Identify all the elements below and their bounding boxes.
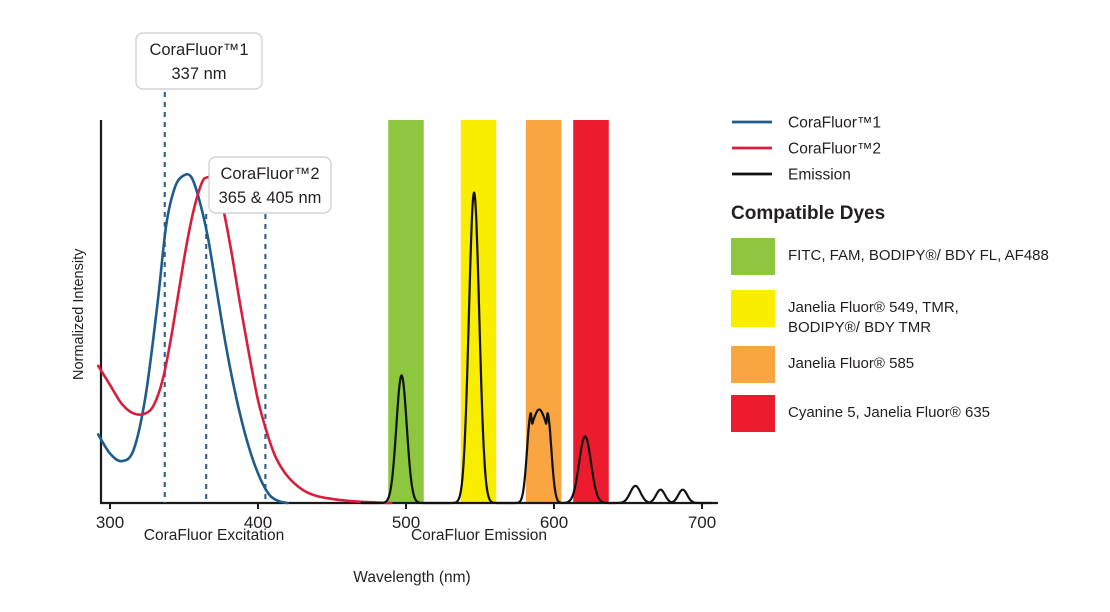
dye-swatch-3 <box>731 346 775 383</box>
emission-band-group <box>388 120 609 503</box>
x-axis-title: Wavelength (nm) <box>353 569 470 586</box>
chart-svg: 300400500600700 CoraFluor™1 337 nm CoraF… <box>0 0 1110 612</box>
dyes-list-group: FITC, FAM, BODIPY®/ BDY FL, AF488Janelia… <box>731 238 1049 432</box>
legend-label-3: Emission <box>788 167 851 184</box>
dye-label-3: Janelia Fluor® 585 <box>788 355 914 372</box>
legend-group: CoraFluor™1CoraFluor™2Emission <box>732 115 881 184</box>
callout-corafluor2: CoraFluor™2 365 & 405 nm <box>209 157 331 213</box>
legend-label-2: CoraFluor™2 <box>788 141 881 158</box>
fluorescence-spectra-figure: 300400500600700 CoraFluor™1 337 nm CoraF… <box>0 0 1110 612</box>
callout-corafluor1: CoraFluor™1 337 nm <box>136 33 262 89</box>
emission-band-1 <box>388 120 424 503</box>
region-label-emission: CoraFluor Emission <box>411 527 547 544</box>
dye-label-2: Janelia Fluor® 549, TMR, <box>788 299 959 316</box>
curve-corafluor1 <box>98 174 287 503</box>
dye-swatch-4 <box>731 395 775 432</box>
curve-corafluor2 <box>98 176 391 503</box>
dye-label-2-line2: BODIPY®/ BDY TMR <box>788 319 931 336</box>
compatible-dyes-heading: Compatible Dyes <box>731 203 885 224</box>
callout-2-line1: CoraFluor™2 <box>220 165 319 183</box>
emission-band-4 <box>573 120 609 503</box>
y-axis-title: Normalized Intensity <box>71 248 87 380</box>
callout-1-line1: CoraFluor™1 <box>149 41 248 59</box>
excitation-marker-group <box>165 92 266 503</box>
dye-label-1: FITC, FAM, BODIPY®/ BDY FL, AF488 <box>788 247 1049 264</box>
callout-1-line2: 337 nm <box>171 65 226 83</box>
dye-swatch-2 <box>731 290 775 327</box>
callout-2-line2: 365 & 405 nm <box>219 189 322 207</box>
dye-swatch-1 <box>731 238 775 275</box>
emission-band-3 <box>526 120 562 503</box>
legend-label-1: CoraFluor™1 <box>788 115 881 132</box>
region-label-excitation: CoraFluor Excitation <box>144 527 284 544</box>
x-tick-label-300: 300 <box>96 513 124 532</box>
dye-label-4: Cyanine 5, Janelia Fluor® 635 <box>788 404 990 421</box>
x-tick-label-700: 700 <box>688 513 716 532</box>
